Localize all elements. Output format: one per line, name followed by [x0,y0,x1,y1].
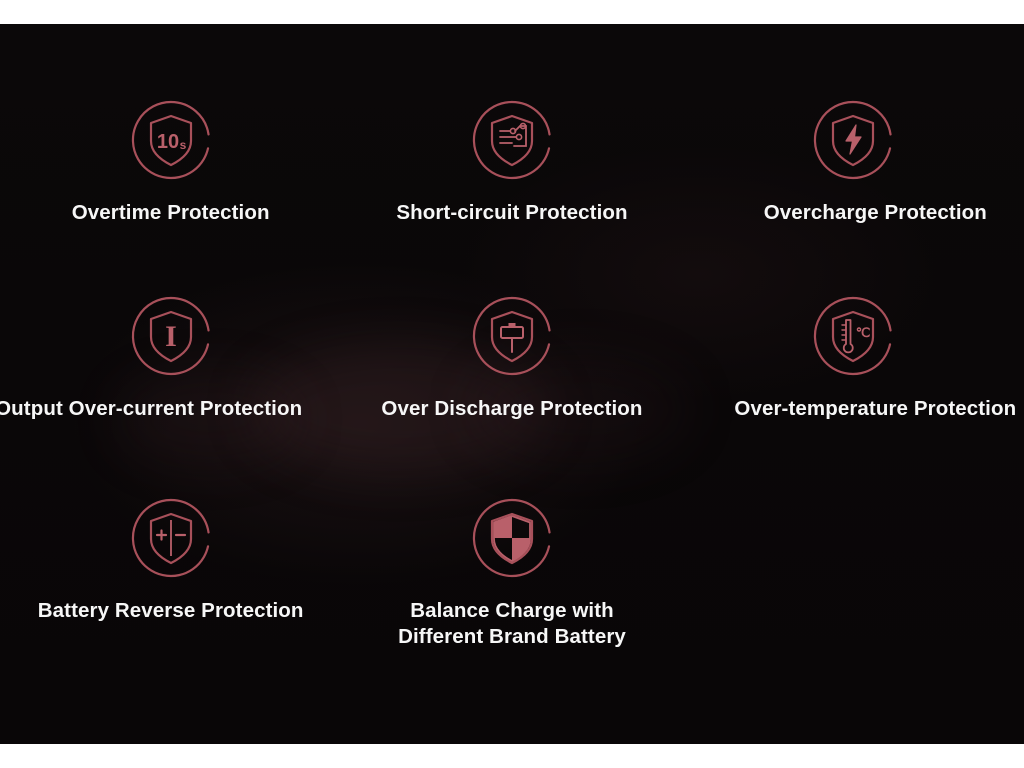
feature-label: Overcharge Protection [727,200,1024,226]
feature-label: Over-temperature Protection [727,396,1024,422]
feature-grid-page: 10 s Overtime Protection [0,0,1024,768]
shield-thermometer-icon: ℃ [809,292,897,380]
feature-item-over-discharge-protection[interactable]: Over Discharge Protection [341,292,682,422]
feature-label-line1: Balance Charge with [410,599,614,622]
icon-text-s: s [179,138,186,152]
shield-current-i-icon: I [127,292,215,380]
feature-label-line2: Different Brand Battery [398,625,626,648]
feature-label: Short-circuit Protection [341,200,682,226]
feature-item-overcharge-protection[interactable]: Overcharge Protection [683,96,1024,226]
feature-label: Battery Reverse Protection [0,598,341,624]
feature-item-balance-charge-different-brand[interactable]: Balance Charge with Different Brand Batt… [341,494,682,650]
feature-item-battery-reverse-protection[interactable]: Battery Reverse Protection [0,494,341,624]
protection-feature-grid: 10 s Overtime Protection [0,24,1024,744]
feature-item-overtime-protection[interactable]: 10 s Overtime Protection [0,96,341,226]
feature-label: Overtime Protection [0,200,341,226]
icon-text-celsius: ℃ [856,325,871,340]
icon-text-current: I [165,320,177,353]
feature-item-over-temperature-protection[interactable]: ℃ Over-temperature Protection [683,292,1024,422]
shield-battery-discharge-icon [468,292,556,380]
icon-text-10: 10 [157,131,179,153]
shield-checkered-icon [468,494,556,582]
shield-10s-icon: 10 s [127,96,215,184]
feature-label: Output Over-current Protection [0,396,341,422]
feature-item-short-circuit-protection[interactable]: Short-circuit Protection [341,96,682,226]
shield-circuit-icon [468,96,556,184]
dark-panel: 10 s Overtime Protection [0,24,1024,744]
shield-lightning-icon [809,96,897,184]
feature-label: Over Discharge Protection [341,396,682,422]
shield-plus-minus-icon [127,494,215,582]
feature-item-output-over-current-protection[interactable]: I Output Over-current Protection [0,292,341,422]
feature-label: Balance Charge with Different Brand Batt… [341,598,682,650]
